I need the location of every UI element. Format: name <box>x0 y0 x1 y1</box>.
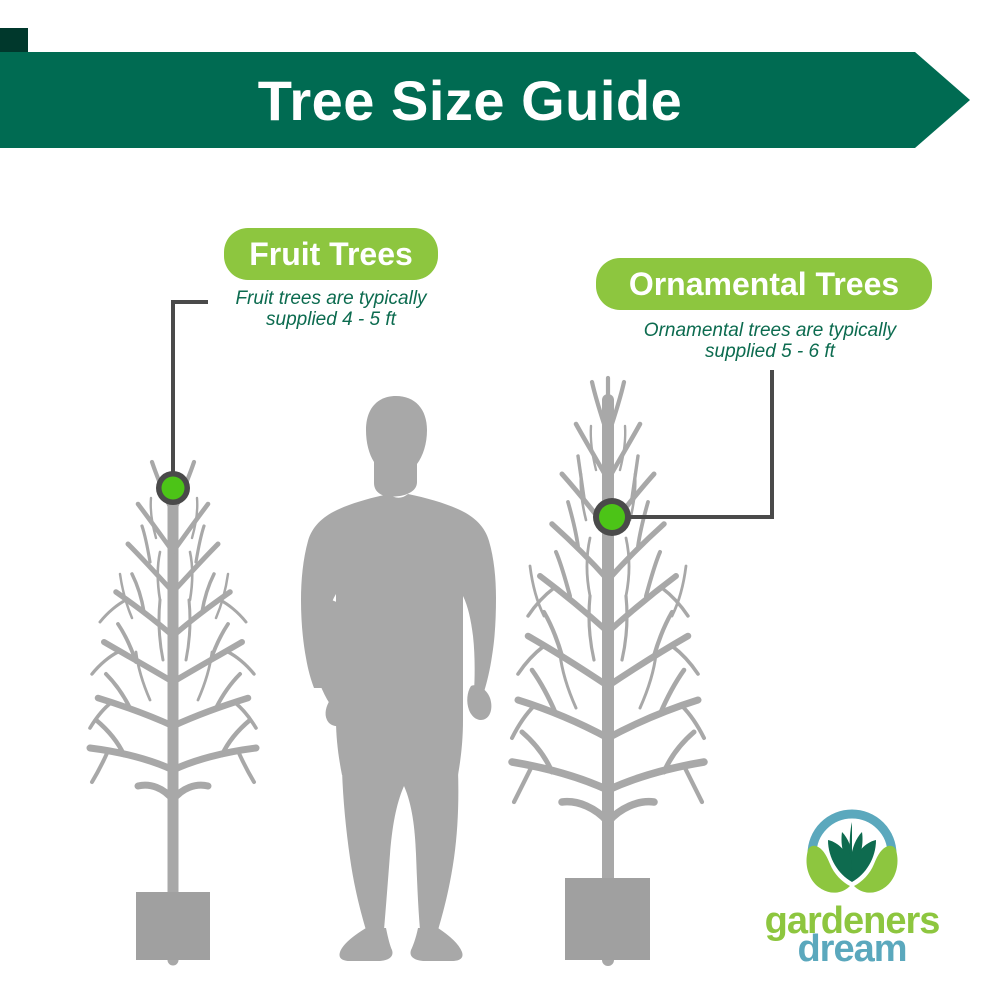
fruit-trees-caption: Fruit trees are typically supplied 4 - 5… <box>196 288 466 331</box>
ornamental-caption-line-1: Ornamental trees are typically <box>620 320 920 341</box>
fruit-tree-height-marker[interactable] <box>156 471 190 505</box>
ornamental-caption-line-2: supplied 5 - 6 ft <box>620 341 920 362</box>
logo-word-dream: dream <box>752 928 952 971</box>
fruit-tree-silhouette <box>90 462 256 960</box>
fruit-tree-pot <box>136 892 210 960</box>
brand-logo: gardeners dream <box>752 800 952 970</box>
hands-cradling-plant-logo-icon <box>794 800 910 900</box>
ornamental-tree-height-marker[interactable] <box>593 498 631 536</box>
ornamental-trees-label-pill[interactable]: Ornamental Trees <box>596 258 932 310</box>
fruit-trees-label-pill[interactable]: Fruit Trees <box>224 228 438 280</box>
human-scale-silhouette <box>301 396 496 961</box>
infographic-canvas: Tree Size Guide <box>0 0 1000 1000</box>
fruit-caption-line-2: supplied 4 - 5 ft <box>196 309 466 330</box>
ornamental-tree-pot <box>565 878 650 960</box>
ornamental-trees-caption: Ornamental trees are typically supplied … <box>620 320 920 363</box>
ornamental-tree-silhouette <box>512 378 704 960</box>
fruit-caption-line-1: Fruit trees are typically <box>196 288 466 309</box>
